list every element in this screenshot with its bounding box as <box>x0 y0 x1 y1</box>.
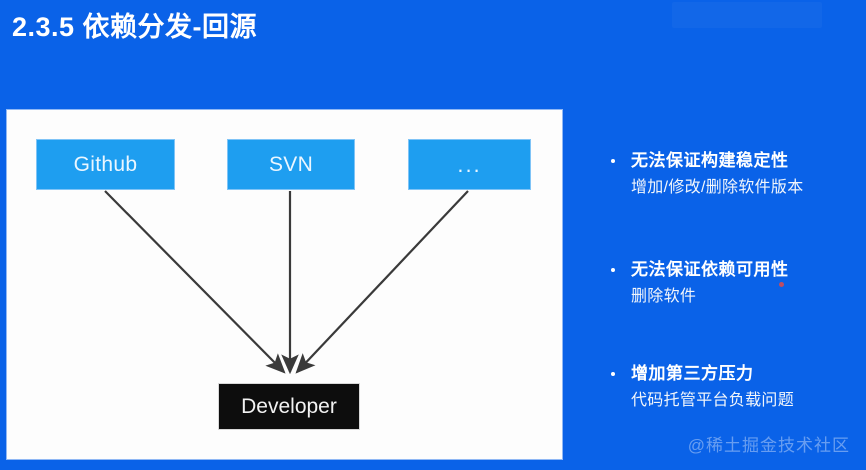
diagram-panel: Github SVN ... Developer <box>7 110 562 459</box>
red-dot-marker <box>779 282 784 287</box>
page-title: 2.3.5 依赖分发-回源 <box>12 8 257 46</box>
node-github-label: Github <box>74 153 138 177</box>
node-developer-label: Developer <box>241 395 337 419</box>
node-github[interactable]: Github <box>36 139 175 190</box>
bullet-item: 增加第三方压力 代码托管平台负载问题 <box>606 361 864 412</box>
presentation-slide: 2.3.5 依赖分发-回源 Github SVN ... Devel <box>0 0 866 470</box>
node-svn-label: SVN <box>269 153 313 177</box>
node-other-label: ... <box>457 152 481 178</box>
bullet-title: 增加第三方压力 <box>631 361 754 386</box>
arrow-github-to-developer <box>105 191 284 372</box>
bullet-item: 无法保证构建稳定性 增加/修改/删除软件版本 <box>606 148 864 199</box>
node-other[interactable]: ... <box>408 139 531 190</box>
node-svn[interactable]: SVN <box>227 139 355 190</box>
bullet-item: 无法保证依赖可用性 删除软件 <box>606 257 864 308</box>
arrow-other-to-developer <box>297 191 468 372</box>
bullet-subtitle: 增加/修改/删除软件版本 <box>631 176 864 199</box>
bullet-title: 无法保证构建稳定性 <box>631 148 789 173</box>
bullet-title: 无法保证依赖可用性 <box>631 257 789 282</box>
watermark: @稀土掘金技术社区 <box>688 431 850 456</box>
bullet-dot-icon <box>611 372 615 376</box>
bullet-dot-icon <box>611 268 615 272</box>
node-developer[interactable]: Developer <box>218 383 360 430</box>
bullet-subtitle: 代码托管平台负载问题 <box>631 389 864 412</box>
bullet-subtitle: 删除软件 <box>631 285 864 308</box>
compression-artifact <box>672 2 822 28</box>
bullet-dot-icon <box>611 159 615 163</box>
